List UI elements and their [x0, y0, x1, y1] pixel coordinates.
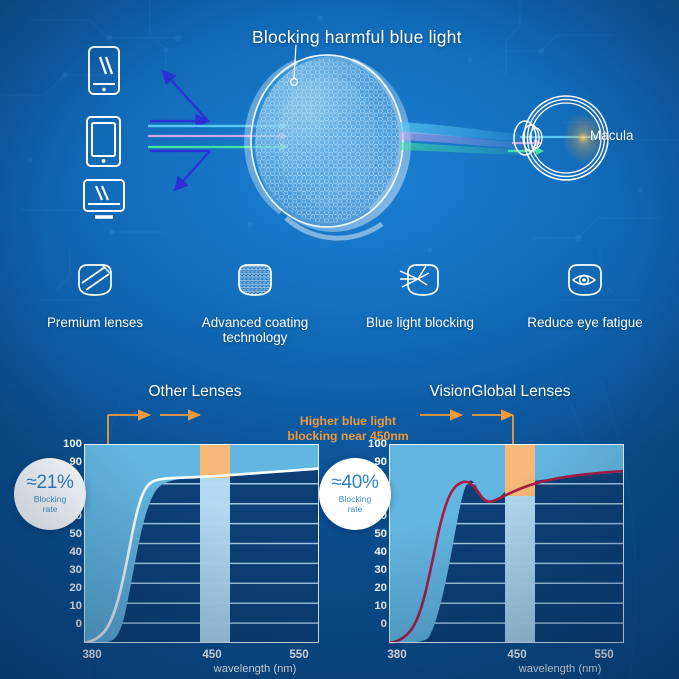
badge-caption: Blockingrate — [339, 495, 371, 514]
eye-fatigue-icon — [500, 255, 670, 307]
chart-plot-visionglobal — [389, 444, 624, 643]
coated-lens-icon — [247, 55, 411, 238]
coating-mesh-icon — [170, 255, 340, 307]
ytick-left-100: 100 — [56, 439, 82, 450]
badge-value: ≈40% — [331, 473, 378, 492]
xtick-right-450: 450 — [497, 649, 537, 661]
monitor-icon — [84, 180, 124, 217]
ytick-right-30: 30 — [361, 565, 387, 576]
feature-premium-lenses[interactable]: Premium lenses — [10, 255, 180, 330]
ytick-right-10: 10 — [361, 601, 387, 612]
feature-label: Premium lenses — [10, 315, 180, 330]
blocked-ray-down — [175, 151, 210, 190]
ytick-left-40: 40 — [56, 547, 82, 558]
comparison-charts: Other Lenses VisionGlobal Lenses Higher … — [0, 378, 679, 679]
xtick-right-550: 550 — [584, 649, 624, 661]
ytick-right-50: 50 — [361, 529, 387, 540]
macula-label: Macula — [590, 128, 634, 143]
premium-lens-icon — [10, 255, 180, 307]
feature-advanced-coating[interactable]: Advanced coatingtechnology — [170, 255, 340, 345]
ytick-right-20: 20 — [361, 583, 387, 594]
blue-light-block-icon — [335, 255, 505, 307]
xtick-left-380: 380 — [72, 649, 112, 661]
badge-value: ≈21% — [26, 473, 73, 492]
feature-label: Advanced coatingtechnology — [170, 315, 340, 345]
chart-plot-other-lenses — [84, 444, 319, 643]
tablet-icon — [87, 117, 120, 166]
feature-blue-light-blocking[interactable]: Blue light blocking — [335, 255, 505, 330]
hero-headline: Blocking harmful blue light — [252, 27, 462, 48]
feature-reduce-eye-fatigue[interactable]: Reduce eye fatigue — [500, 255, 670, 330]
xtick-left-450: 450 — [192, 649, 232, 661]
ytick-left-10: 10 — [56, 601, 82, 612]
ytick-right-40: 40 — [361, 547, 387, 558]
feature-label: Reduce eye fatigue — [500, 315, 670, 330]
ytick-left-20: 20 — [56, 583, 82, 594]
orange-band-left — [200, 444, 230, 478]
blocking-rate-badge-left: ≈21% Blockingrate — [14, 458, 86, 530]
ytick-left-30: 30 — [56, 565, 82, 576]
ytick-left-0: 0 — [56, 619, 82, 630]
feature-label: Blue light blocking — [335, 315, 505, 330]
ytick-right-0: 0 — [361, 619, 387, 630]
xaxis-label-right: wavelength (nm) — [495, 664, 625, 675]
xaxis-label-left: wavelength (nm) — [190, 664, 320, 675]
xtick-left-550: 550 — [279, 649, 319, 661]
feature-row: Premium lenses Advanced coatingtechnolog… — [0, 255, 679, 340]
smartphone-icon — [89, 47, 119, 94]
infographic-root: Blocking harmful blue light Macula Premi… — [0, 0, 679, 679]
badge-caption: Blockingrate — [34, 495, 66, 514]
blocking-rate-badge-right: ≈40% Blockingrate — [319, 458, 391, 530]
blocked-ray-up — [163, 71, 208, 121]
ytick-left-50: 50 — [56, 529, 82, 540]
ytick-right-100: 100 — [361, 439, 387, 450]
xtick-right-380: 380 — [377, 649, 417, 661]
